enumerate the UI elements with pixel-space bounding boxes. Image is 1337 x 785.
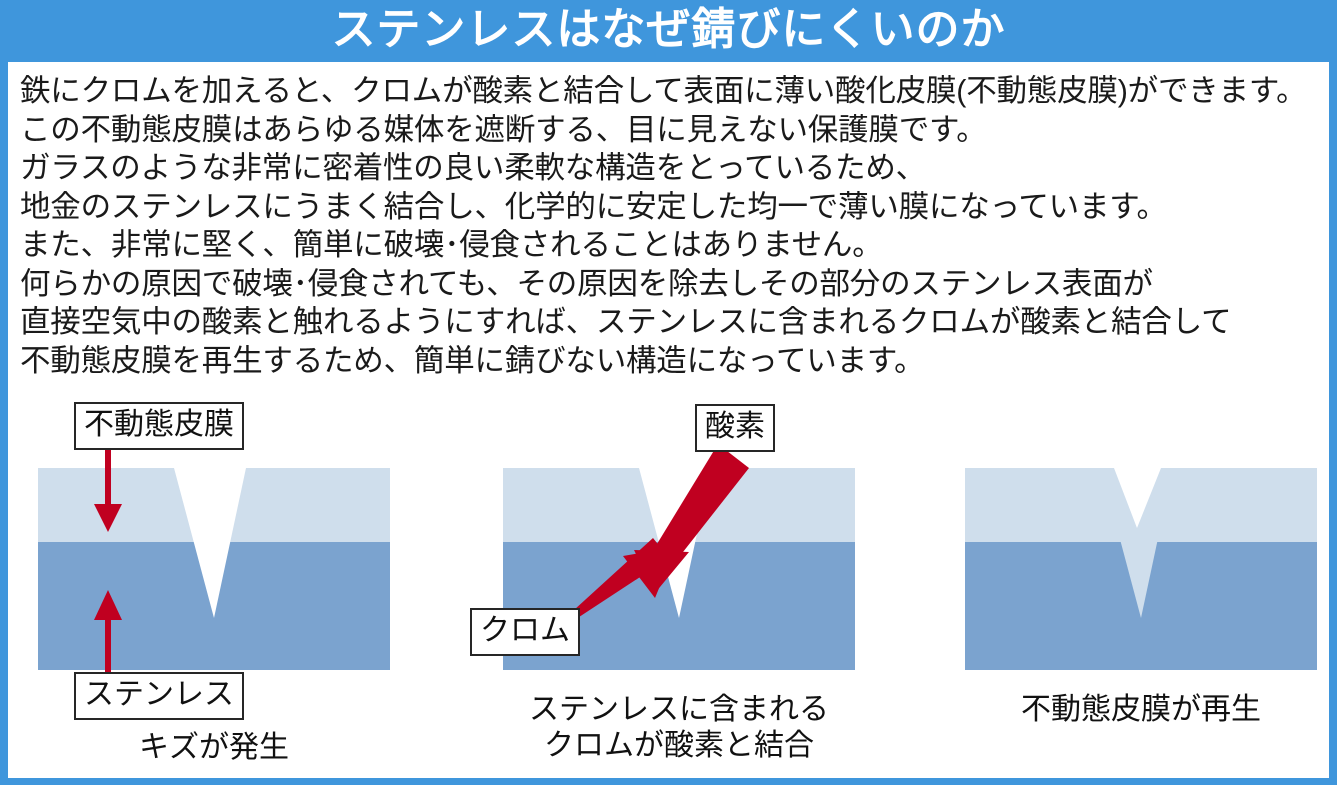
caption-panel-bonding: ステンレスに含まれる クロムが酸素と結合	[439, 692, 919, 764]
caption-panel-regenerated: 不動態皮膜が再生	[901, 692, 1337, 728]
infographic-page: ステンレスはなぜ錆びにくいのか 鉄にクロムを加えると、クロムが酸素と結合して表面…	[0, 0, 1337, 785]
panel-regenerated: 不動態皮膜が再生	[965, 392, 1317, 782]
caption-panel-scratch: キズが発生	[0, 730, 454, 766]
body-line-2: この不動態皮膜はあらゆる媒体を遮断する、目に見えない保護膜です。	[20, 111, 1320, 150]
panel-scratch: 不動態皮膜 ステンレス キズが発生	[38, 392, 390, 782]
label-chromium: クロム	[470, 608, 580, 656]
process-diagram: 不動態皮膜 ステンレス キズが発生	[0, 392, 1337, 782]
caption-line: 不動態皮膜が再生	[901, 692, 1337, 728]
label-oxygen: 酸素	[695, 404, 775, 452]
metal-block-regenerated	[965, 468, 1317, 670]
metal-block-scratched	[38, 468, 390, 670]
body-line-8: 不動態皮膜を再生するため、簡単に錆びない構造になっています。	[20, 342, 1320, 381]
label-passive-film: 不動態皮膜	[74, 402, 244, 450]
header-banner: ステンレスはなぜ錆びにくいのか	[0, 0, 1337, 62]
caption-line: キズが発生	[0, 730, 454, 766]
body-line-3: ガラスのような非常に密着性の良い柔軟な構造をとっているため、	[20, 149, 1320, 188]
body-text-block: 鉄にクロムを加えると、クロムが酸素と結合して表面に薄い酸化皮膜(不動態皮膜)がで…	[20, 72, 1320, 380]
label-chromium-text: クロム	[480, 614, 570, 647]
body-line-1: 鉄にクロムを加えると、クロムが酸素と結合して表面に薄い酸化皮膜(不動態皮膜)がで…	[20, 72, 1320, 111]
caption-line: ステンレスに含まれる	[439, 692, 919, 728]
body-line-7: 直接空気中の酸素と触れるようにすれば、ステンレスに含まれるクロムが酸素と結合して	[20, 303, 1320, 342]
caption-line: クロムが酸素と結合	[439, 728, 919, 764]
body-line-6: 何らかの原因で破壊･侵食されても、その原因を除去しその部分のステンレス表面が	[20, 265, 1320, 304]
label-stainless: ステンレス	[74, 672, 244, 720]
label-passive-film-text: 不動態皮膜	[84, 408, 234, 441]
page-title: ステンレスはなぜ錆びにくいのか	[331, 8, 1005, 52]
body-line-5: また、非常に堅く、簡単に破壊･侵食されることはありません。	[20, 226, 1320, 265]
label-oxygen-text: 酸素	[705, 410, 765, 443]
panel-bonding: 酸素 クロム ステンレスに含まれる クロムが酸素と結合	[503, 392, 855, 782]
body-line-4: 地金のステンレスにうまく結合し、化学的に安定した均一で薄い膜になっています。	[20, 188, 1320, 227]
label-stainless-text: ステンレス	[84, 678, 234, 711]
